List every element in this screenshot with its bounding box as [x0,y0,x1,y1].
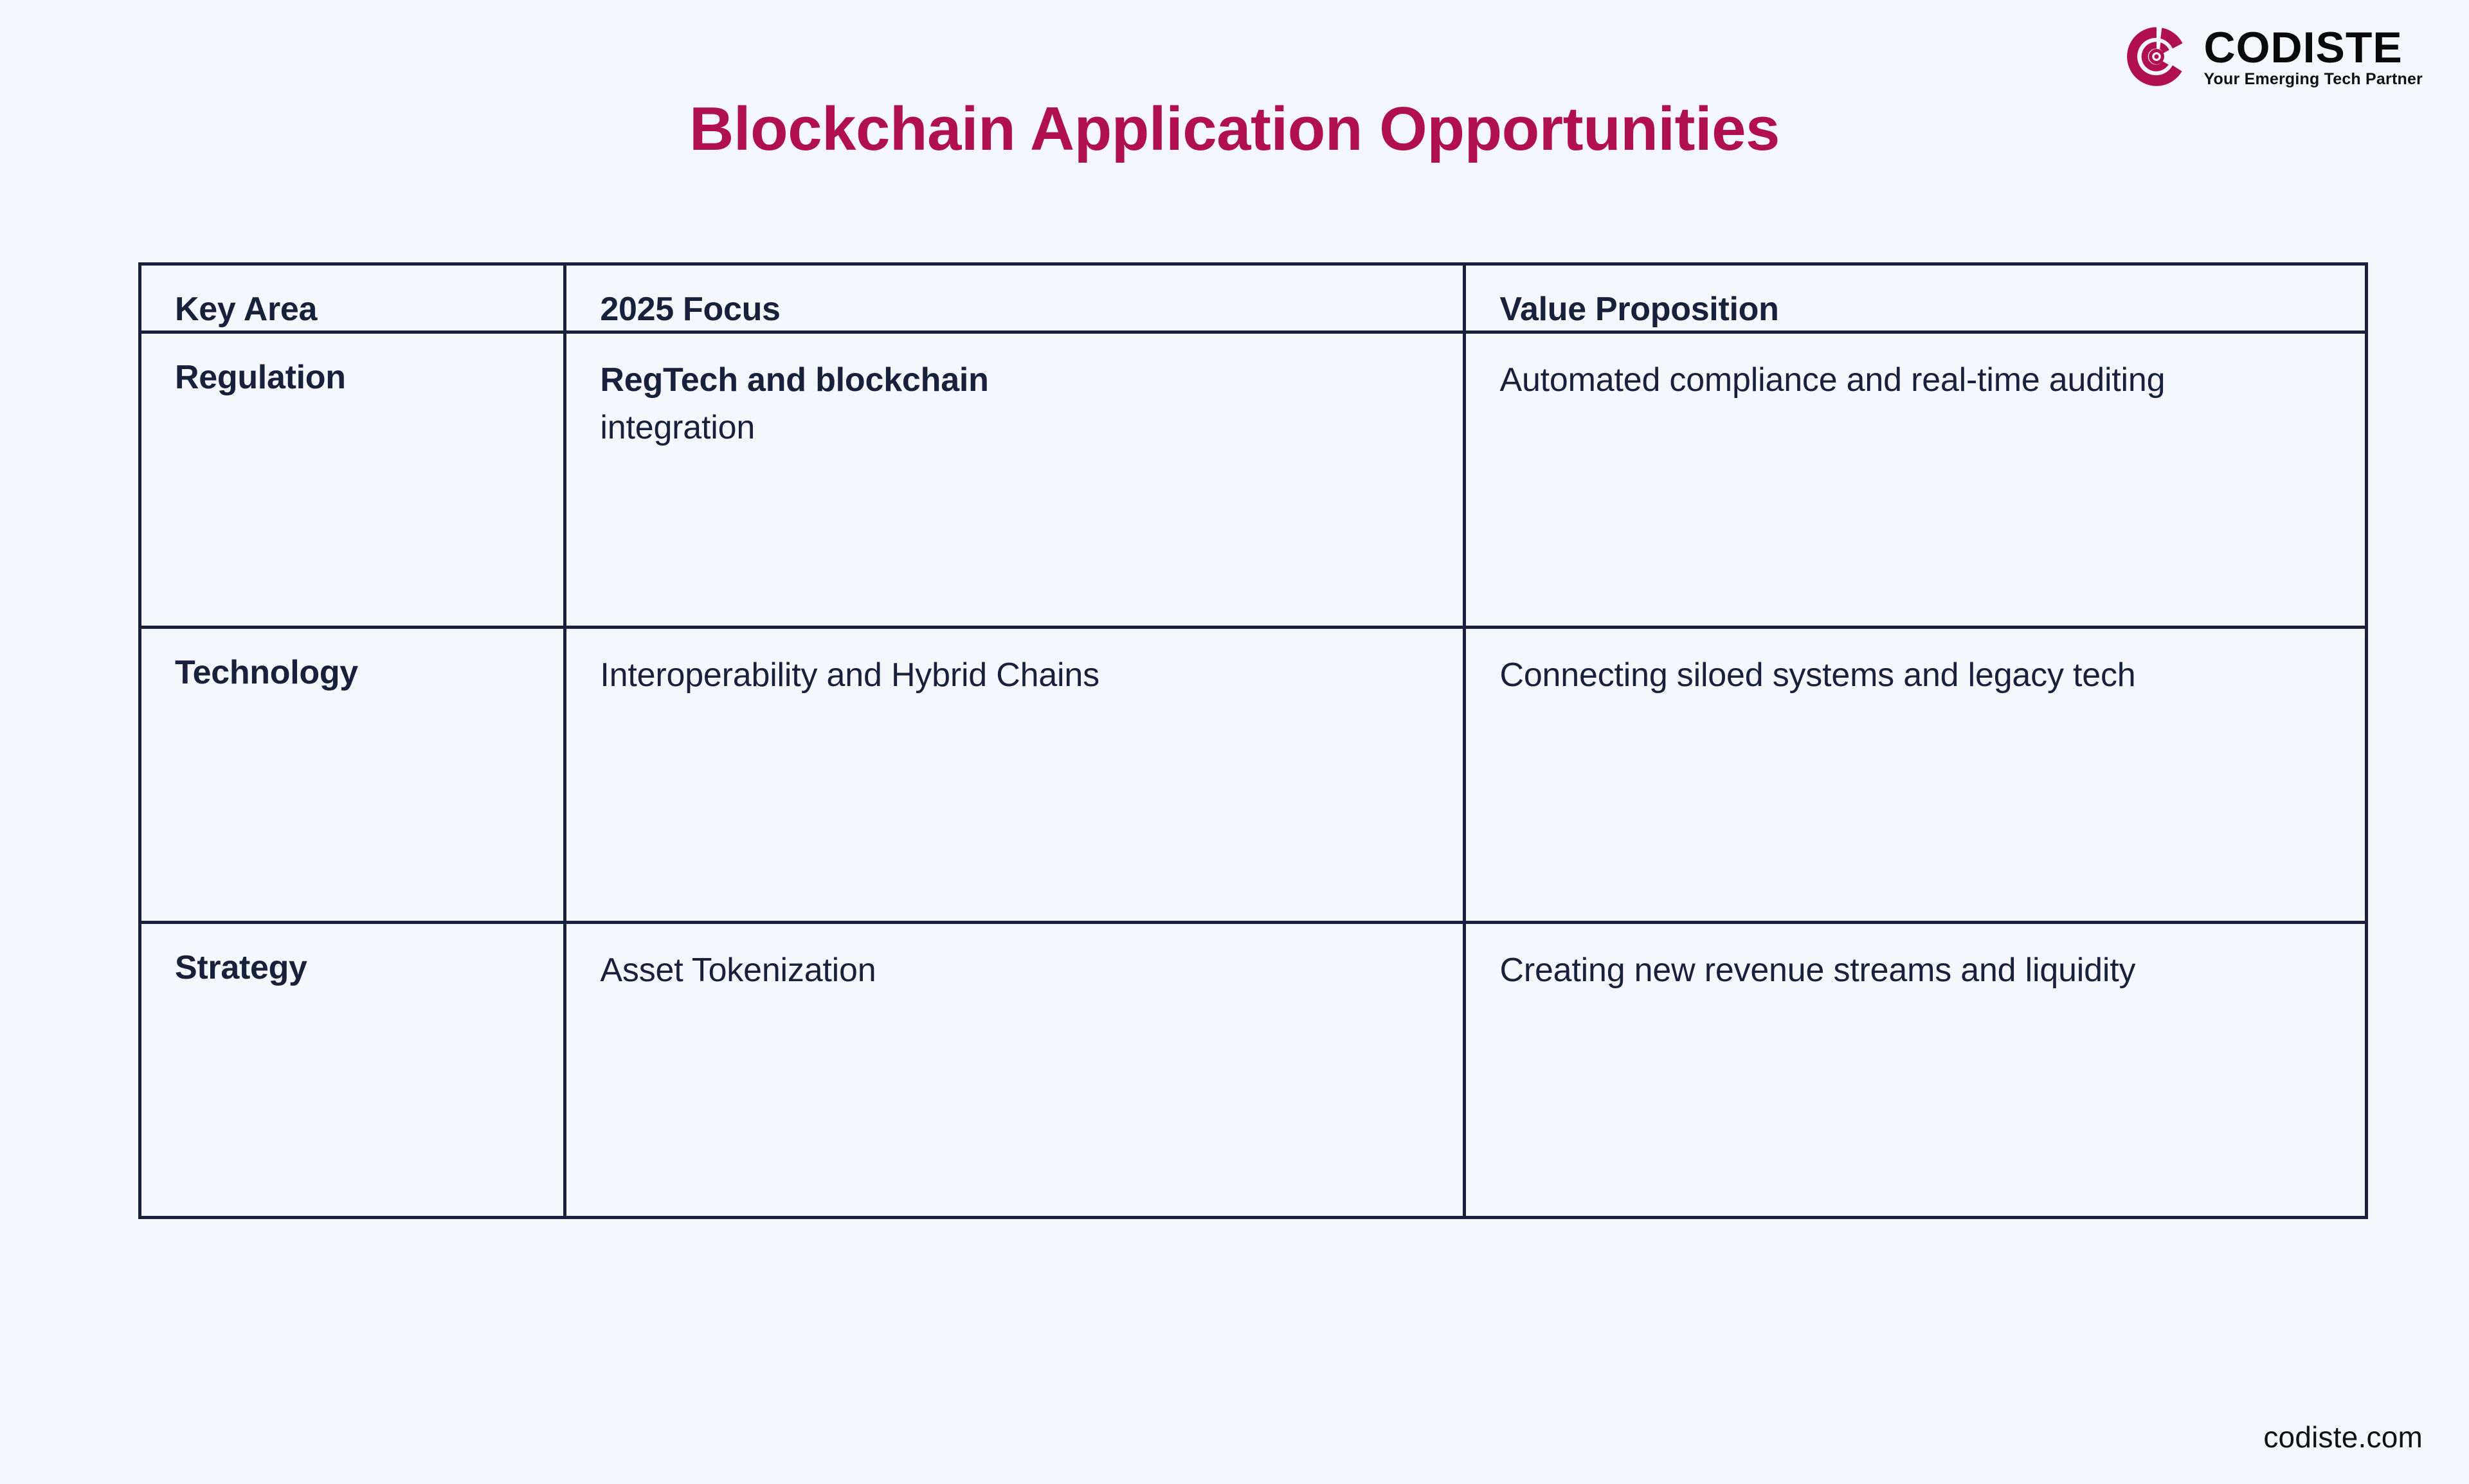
cell-value-proposition: Creating new revenue streams and liquidi… [1465,923,2367,1218]
table-row: Technology Interoperability and Hybrid C… [140,628,2367,923]
cell-2025-focus: Interoperability and Hybrid Chains [565,628,1465,923]
cell-2025-focus: RegTech and blockchain integration [565,332,1465,628]
focus-text: Interoperability and Hybrid Chains [600,652,1463,700]
footer-website-url: codiste.com [2263,1420,2423,1454]
cell-value-proposition: Connecting siloed systems and legacy tec… [1465,628,2367,923]
opportunities-table: Key Area 2025 Focus Value Proposition Re… [138,262,2368,1219]
cell-key-area: Technology [140,628,565,923]
value-proposition-text: Creating new revenue streams and liquidi… [1499,947,2365,995]
value-proposition-text: Connecting siloed systems and legacy tec… [1499,652,2365,700]
page-title: Blockchain Application Opportunities [0,95,2469,163]
cell-key-area: Strategy [140,923,565,1218]
table-header-row: Key Area 2025 Focus Value Proposition [140,264,2367,332]
table-row: Regulation RegTech and blockchain integr… [140,332,2367,628]
brand-text: CODISTE Your Emerging Tech Partner [2204,26,2423,87]
focus-text: Asset Tokenization [600,947,1463,995]
focus-emphasis: RegTech and blockchain [600,357,1463,404]
cell-key-area: Regulation [140,332,565,628]
cell-value-proposition: Automated compliance and real-time audit… [1465,332,2367,628]
opportunities-table-container: Key Area 2025 Focus Value Proposition Re… [138,262,2368,1219]
cell-2025-focus: Asset Tokenization [565,923,1465,1218]
column-header-value-proposition: Value Proposition [1465,264,2367,332]
brand-tagline: Your Emerging Tech Partner [2204,71,2423,87]
column-header-2025-focus: 2025 Focus [565,264,1465,332]
value-proposition-text: Automated compliance and real-time audit… [1499,357,2365,404]
codiste-circular-c-icon [2123,23,2190,90]
column-header-key-area: Key Area [140,264,565,332]
brand-wordmark: CODISTE [2204,26,2403,70]
table-row: Strategy Asset Tokenization Creating new… [140,923,2367,1218]
focus-remainder: integration [600,404,1463,452]
brand-logo: CODISTE Your Emerging Tech Partner [2123,23,2423,90]
